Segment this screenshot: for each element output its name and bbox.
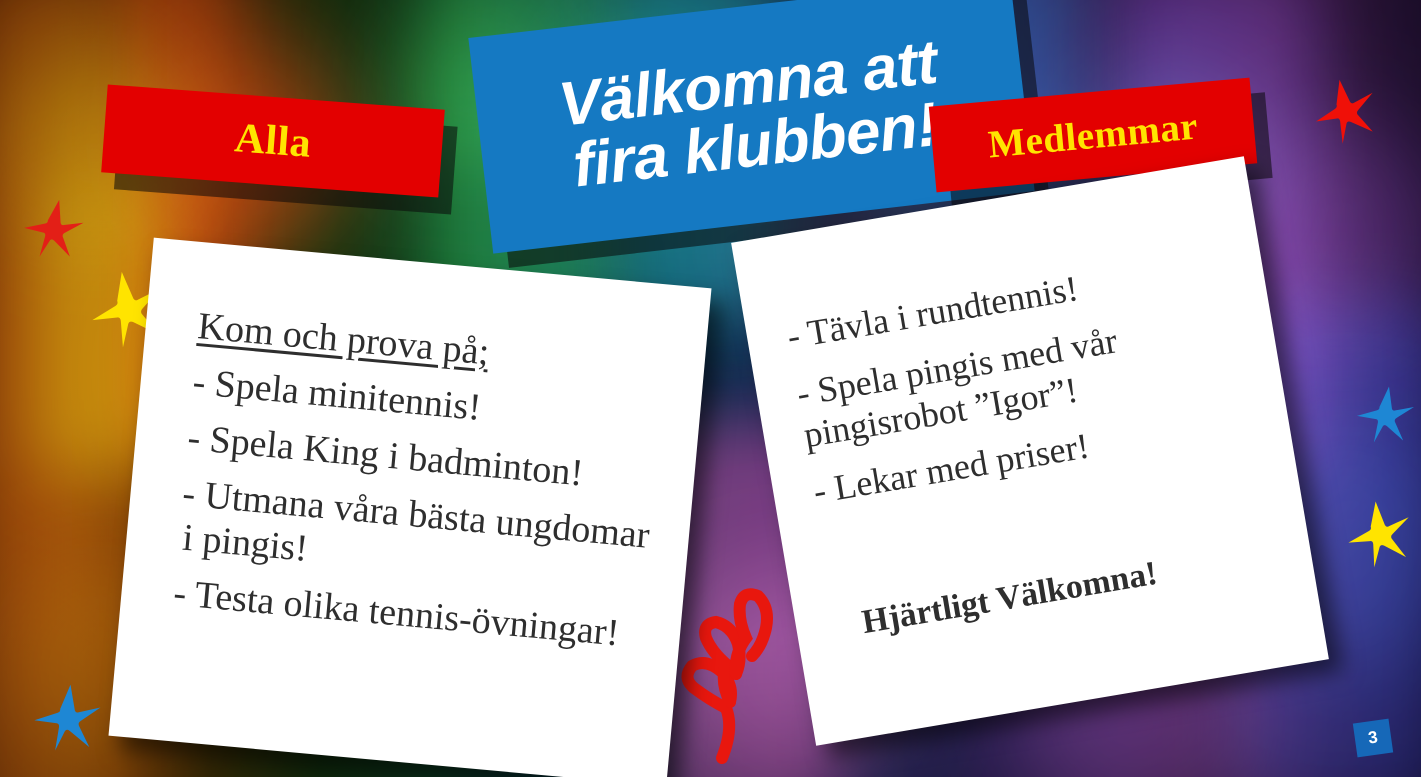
card-alla: Kom och prova på; - Spela minitennis! - … (108, 238, 711, 777)
slide-number-text: 3 (1367, 727, 1379, 748)
title-banner-text: Välkomna att fira klubben! (556, 31, 948, 198)
card-medlemmar-closing: Hjärtligt Välkomna! (833, 532, 1287, 647)
card-medlemmar-body: - Tävla i rundtennis! - Spela pingis med… (731, 156, 1313, 653)
card-medlemmar: - Tävla i rundtennis! - Spela pingis med… (731, 156, 1329, 746)
slide-canvas: Välkomna att fira klubben! Alla Medlemma… (0, 0, 1421, 777)
slide-number-badge: 3 (1353, 719, 1393, 758)
banner-medlemmar-label: Medlemmar (986, 103, 1199, 167)
card-alla-body: Kom och prova på; - Spela minitennis! - … (120, 238, 712, 662)
banner-alla-label: Alla (233, 114, 313, 168)
